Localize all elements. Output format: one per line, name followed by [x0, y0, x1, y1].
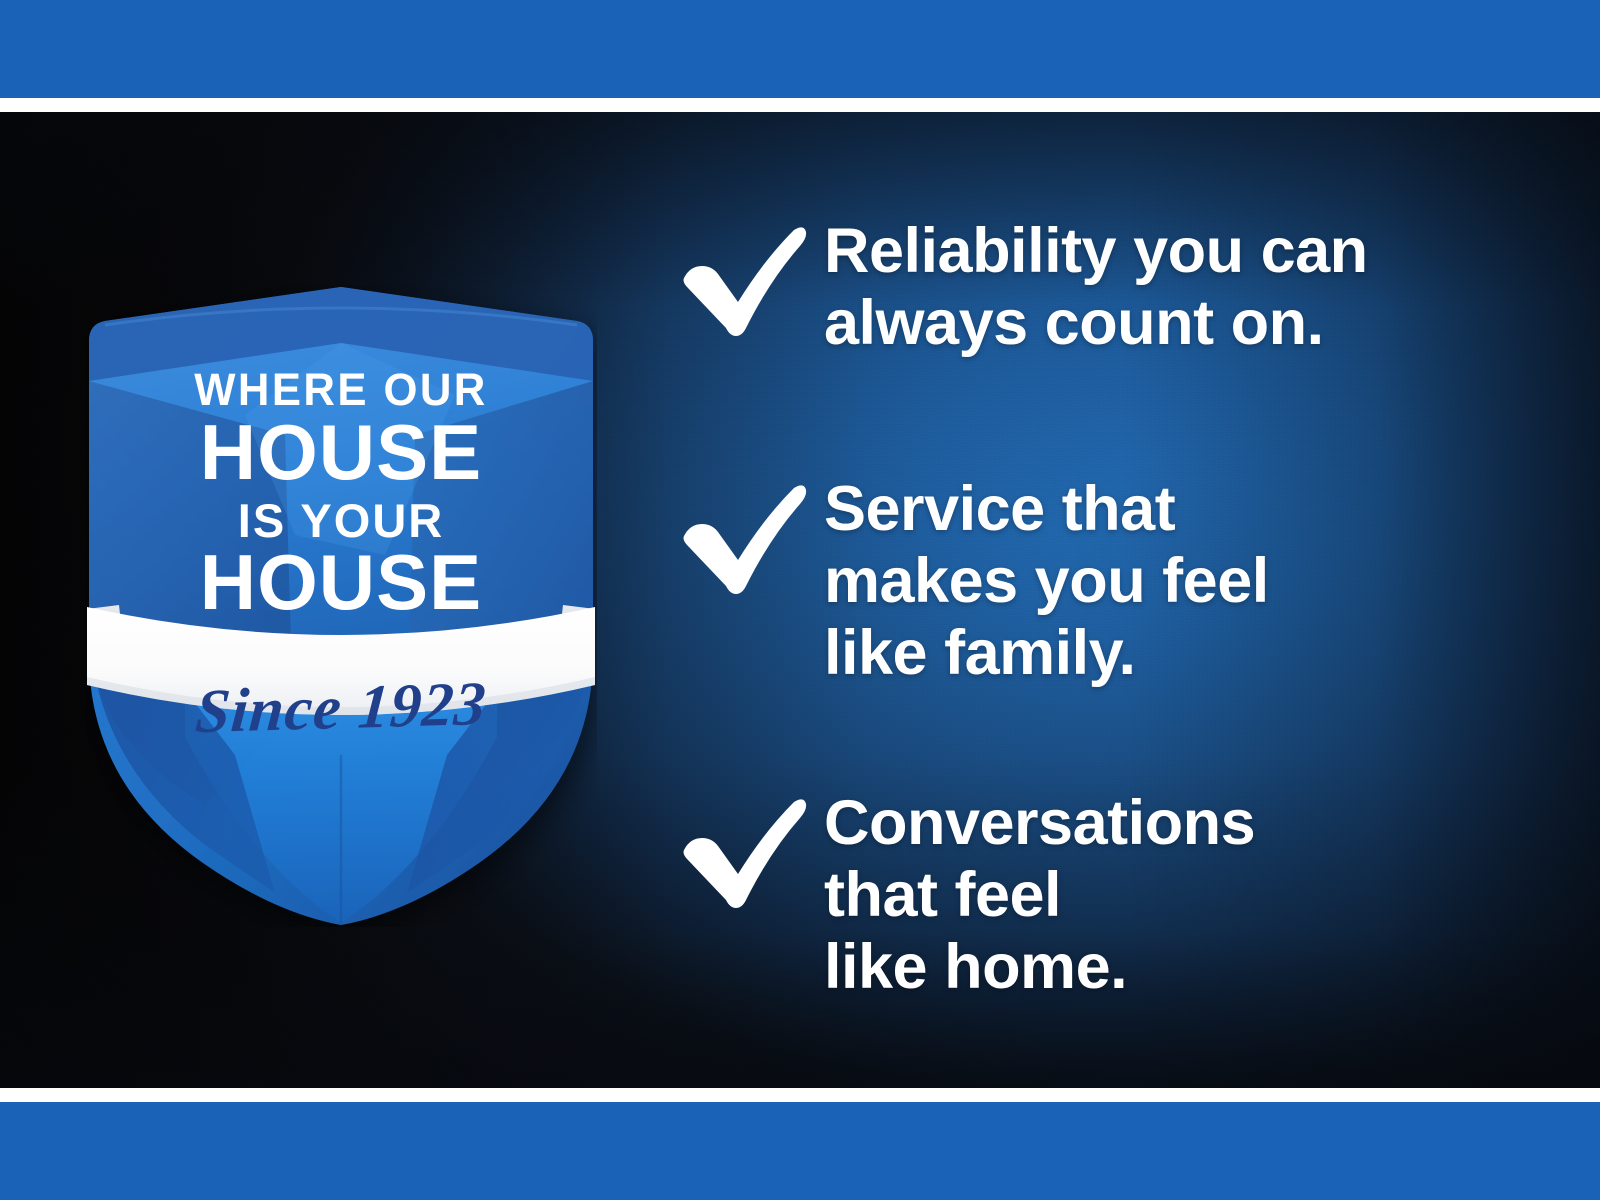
benefits-list: Reliability you can always count on. Ser… [676, 112, 1556, 1088]
benefit-line-1: Service that [824, 474, 1556, 546]
top-brand-bar [0, 0, 1600, 98]
list-item: Reliability you can always count on. [676, 216, 1556, 360]
benefit-line-1: Reliability you can [824, 216, 1556, 288]
benefit-line-2: that feel [824, 860, 1556, 932]
benefit-text: Reliability you can always count on. [824, 216, 1556, 360]
benefit-line-2: always count on. [824, 288, 1556, 360]
benefit-line-2: makes you feel [824, 546, 1556, 618]
main-stage: Where Our House Is Your House Since 1923… [0, 112, 1600, 1088]
benefit-line-3: like home. [824, 932, 1556, 1004]
bottom-brand-bar [0, 1102, 1600, 1200]
benefit-line-3: like family. [824, 618, 1556, 690]
shield-badge: Where Our House Is Your House Since 1923 [85, 285, 597, 927]
checkmark-icon [676, 788, 824, 910]
benefit-line-1: Conversations [824, 788, 1556, 860]
list-item: Conversations that feel like home. [676, 788, 1556, 1003]
checkmark-icon [676, 474, 824, 596]
list-item: Service that makes you feel like family. [676, 474, 1556, 689]
shield-icon [85, 285, 597, 927]
benefit-text: Service that makes you feel like family. [824, 474, 1556, 689]
promo-graphic: Where Our House Is Your House Since 1923… [0, 0, 1600, 1200]
benefit-text: Conversations that feel like home. [824, 788, 1556, 1003]
checkmark-icon [676, 216, 824, 338]
